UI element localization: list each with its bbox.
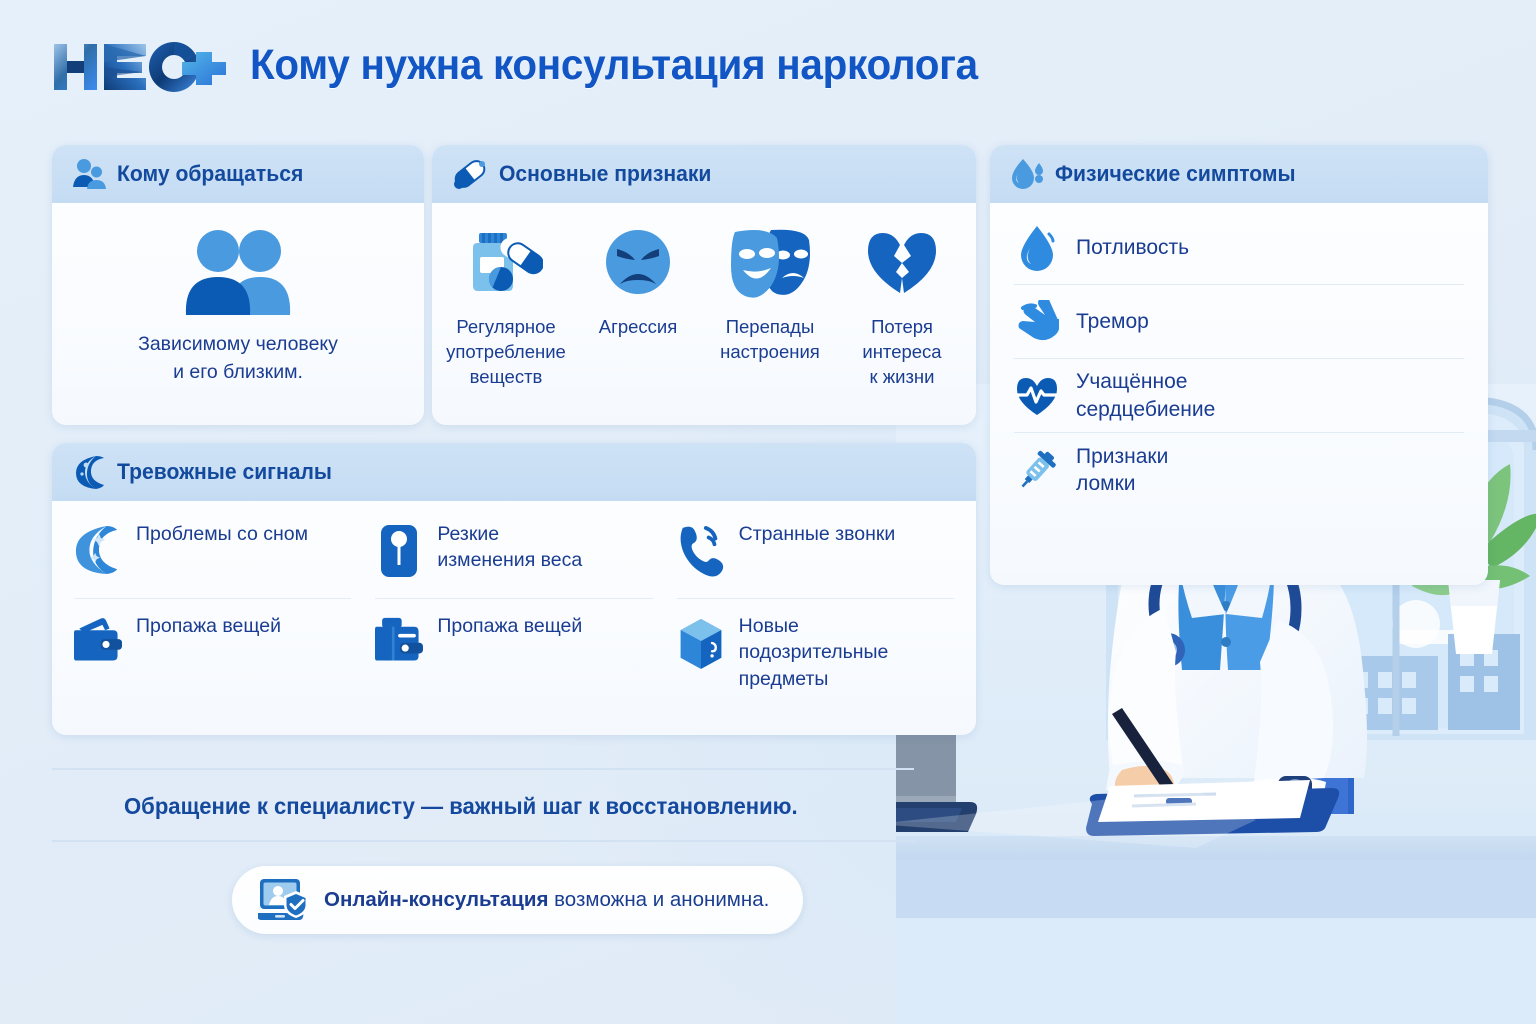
alert-item-missing-things-1: Пропажа вещей — [74, 599, 351, 692]
card-signs-header: Основные признаки — [432, 145, 976, 203]
card-physical-symptoms: Физические симптомы Потливость — [990, 145, 1488, 585]
who-text-line1: Зависимому человеку — [138, 331, 338, 359]
phys-label-l1: Признаки — [1076, 443, 1168, 470]
phys-row-withdrawal: Признаки ломки — [1014, 433, 1464, 507]
phys-label-l2: ломки — [1076, 470, 1168, 497]
alert-label-l1: Проблемы со сном — [136, 521, 308, 547]
card-main-signs: Основные признаки — [432, 145, 976, 425]
alert-item-weight-changes: Резкие изменения веса — [375, 507, 652, 599]
signs-grid: Регулярное употребление вещеcтв — [432, 203, 976, 390]
sign-label-l2: настроения — [720, 340, 820, 365]
phys-label: Тремор — [1076, 308, 1149, 335]
card-alerts-title: Тревожные сигналы — [117, 459, 332, 485]
alert-label: Пропажа вещей — [136, 613, 281, 639]
alert-label-l2: изменения веса — [437, 547, 582, 573]
two-people-icon — [174, 229, 302, 315]
card-phys-title: Физические симптомы — [1055, 161, 1296, 187]
sign-label-l2: интереса — [862, 340, 941, 365]
alert-label-l2: подозрительные — [739, 639, 889, 665]
weight-scale-icon — [375, 521, 423, 579]
online-consult-icon — [258, 877, 310, 923]
sign-item-regular-use: Регулярное употребление вещеcтв — [446, 225, 566, 390]
alert-label: Резкие изменения веса — [437, 521, 582, 574]
wallet-closed-icon — [375, 613, 423, 667]
phys-label-l2: сердцебиение — [1076, 396, 1215, 423]
moon-icon — [72, 454, 106, 490]
sign-item-loss-of-interest: Потеря интереса к жизни — [842, 225, 962, 390]
sign-label-l1: Перепады — [720, 315, 820, 340]
sign-label: Потеря интереса к жизни — [862, 315, 941, 390]
phys-label: Признаки ломки — [1076, 443, 1168, 498]
suspicious-box-icon — [677, 613, 725, 671]
phys-row-heartbeat: Учащённое сердцебиение — [1014, 359, 1464, 433]
broken-heart-icon — [864, 225, 940, 299]
alert-label: Новые подозрительные предметы — [739, 613, 889, 692]
alert-label-l1: Резкие — [437, 521, 582, 547]
page-header: Кому нужна консультация нарколога — [52, 34, 1024, 96]
sign-label: Агрессия — [599, 315, 678, 340]
brand-logo — [52, 34, 232, 96]
theatre-masks-icon — [727, 225, 813, 299]
pill-text-rest: возможна и анонимна. — [548, 888, 769, 911]
phys-label: Потливость — [1076, 234, 1189, 261]
alert-item-sleep-problems: Проблемы со сном — [74, 507, 351, 599]
shaking-hand-icon — [1014, 300, 1060, 344]
syringe-icon — [1014, 447, 1060, 493]
alert-label-l1: Странные звонки — [739, 521, 896, 547]
people-icon — [72, 157, 106, 191]
phys-row-sweating: Потливость — [1014, 211, 1464, 285]
sign-item-aggression: Агрессия — [578, 225, 698, 390]
water-drops-icon — [1010, 157, 1044, 191]
card-who-text: Зависимому человеку и его близким. — [138, 331, 338, 386]
card-who-title: Кому обращаться — [117, 161, 303, 187]
pill-text: Онлайн-консультация возможна и анонимна. — [324, 888, 769, 912]
card-who-to-contact: Кому обращаться Зависимому человеку и ег… — [52, 145, 424, 425]
sign-label-l3: вещеcтв — [446, 365, 566, 390]
pill-text-bold: Онлайн-консультация — [324, 888, 548, 911]
footer-note: Обращение к специалисту — важный шаг к в… — [124, 793, 950, 820]
phys-row-tremor: Тремор — [1014, 285, 1464, 359]
sign-label-l2: употребление — [446, 340, 566, 365]
neo-plus-logo-icon — [52, 38, 232, 96]
phone-ringing-icon — [677, 521, 725, 577]
pills-icon — [452, 157, 488, 191]
alert-item-suspicious-objects: Новые подозрительные предметы — [677, 599, 954, 692]
alert-label-l3: предметы — [739, 666, 889, 692]
footer-divider-bottom — [52, 840, 914, 842]
sign-label: Перепады настроения — [720, 315, 820, 365]
card-alert-signals: Тревожные сигналы Проблемы со сном — [52, 443, 976, 735]
alert-label-l1: Новые — [739, 613, 889, 639]
alert-label: Пропажа вещей — [437, 613, 582, 639]
alert-label: Странные звонки — [739, 521, 896, 547]
card-who-header: Кому обращаться — [52, 145, 424, 203]
droplet-icon — [1014, 224, 1060, 272]
alert-label: Проблемы со сном — [136, 521, 308, 547]
heartbeat-icon — [1014, 375, 1060, 417]
alert-label-l1: Пропажа вещей — [136, 613, 281, 639]
alert-label-l1: Пропажа вещей — [437, 613, 582, 639]
sign-label-l1: Регулярное — [446, 315, 566, 340]
who-text-line2: и его близким. — [138, 359, 338, 387]
sign-label-l1: Потеря — [862, 315, 941, 340]
sign-label: Регулярное употребление вещеcтв — [446, 315, 566, 390]
alert-item-strange-calls: Странные звонки — [677, 507, 954, 599]
page-title: Кому нужна консультация нарколога — [250, 41, 978, 90]
card-signs-title: Основные признаки — [499, 161, 711, 187]
phys-label: Учащённое сердцебиение — [1076, 368, 1215, 423]
alert-item-missing-things-2: Пропажа вещей — [375, 599, 652, 692]
moon-stars-icon — [74, 521, 122, 577]
wallet-open-icon — [74, 613, 122, 665]
angry-face-icon — [603, 225, 673, 299]
sign-item-mood-swings: Перепады настроения — [710, 225, 830, 390]
card-alerts-header: Тревожные сигналы — [52, 443, 976, 501]
online-consultation-pill: Онлайн-консультация возможна и анонимна. — [232, 866, 803, 934]
sign-label-l3: к жизни — [862, 365, 941, 390]
pill-bottle-icon — [469, 225, 543, 299]
footer-divider-top — [52, 768, 914, 770]
alerts-grid: Проблемы со сном Резкие изменения веса — [52, 501, 976, 692]
sign-label-l1: Агрессия — [599, 315, 678, 340]
phys-label-l1: Учащённое — [1076, 368, 1215, 395]
card-phys-header: Физические симптомы — [990, 145, 1488, 203]
